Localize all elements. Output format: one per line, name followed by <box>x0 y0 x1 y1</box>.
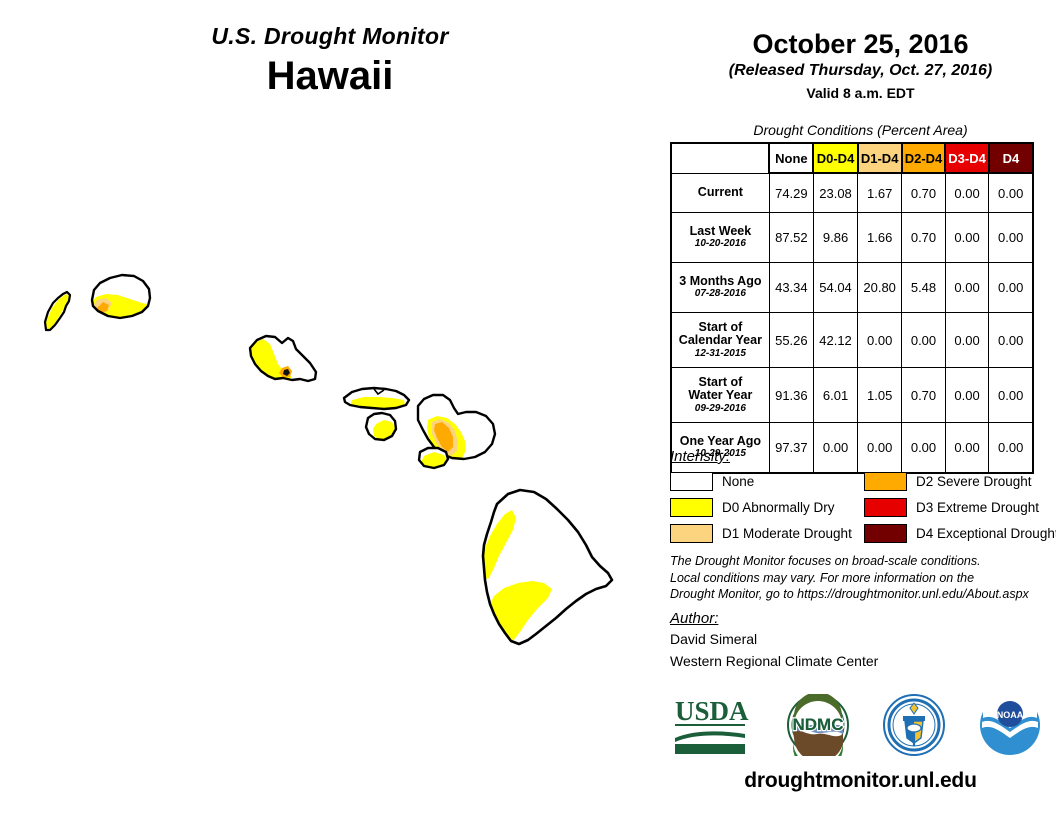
table-cell: 55.26 <box>769 313 813 368</box>
legend-swatch <box>670 472 713 491</box>
table-col-header-d2-d4: D2-D4 <box>902 143 946 173</box>
table-row-label: Current <box>671 173 769 213</box>
table-cell: 54.04 <box>813 263 857 313</box>
island-kauai <box>88 275 154 322</box>
disclaimer-line-1: The Drought Monitor focuses on broad-sca… <box>670 553 1056 570</box>
table-row-label-line1: Start of <box>699 375 743 389</box>
legend-label: None <box>722 474 754 489</box>
legend-item-d4: D4 Exceptional Drought <box>864 523 1056 543</box>
table-cell: 1.67 <box>858 173 902 213</box>
table-cell: 5.48 <box>902 263 946 313</box>
drought-monitor-page: U.S. Drought Monitor Hawaii <box>0 0 1056 816</box>
author-title: Author: <box>670 610 1056 627</box>
island-molokai <box>344 388 409 410</box>
table-cell: 0.00 <box>945 263 989 313</box>
table-col-header-d1-d4: D1-D4 <box>858 143 902 173</box>
intensity-legend: Intensity: NoneD0 Abnormally DryD1 Moder… <box>670 448 1056 547</box>
table-header-row: NoneD0-D4D1-D4D2-D4D3-D4D4 <box>671 143 1033 173</box>
usda-logo: USDA <box>673 694 749 756</box>
table-row-label: Start ofCalendar Year12-31-2015 <box>671 313 769 368</box>
legend-swatch <box>864 498 907 517</box>
table-row: Start ofCalendar Year12-31-201555.2642.1… <box>671 313 1033 368</box>
legend-item-d2: D2 Severe Drought <box>864 471 1032 491</box>
table-cell: 42.12 <box>813 313 857 368</box>
disclaimer-line-3: Drought Monitor, go to https://droughtmo… <box>670 586 1056 603</box>
legend-swatch <box>670 498 713 517</box>
table-cell: 0.00 <box>902 313 946 368</box>
table-caption: Drought Conditions (Percent Area) <box>665 122 1056 138</box>
legend-grid: NoneD0 Abnormally DryD1 Moderate Drought… <box>670 471 1056 547</box>
author-block: Author: David Simeral Western Regional C… <box>670 610 1056 671</box>
table-cell: 0.70 <box>902 368 946 423</box>
legend-item-d0: D0 Abnormally Dry <box>670 497 835 517</box>
hawaii-islands-map[interactable] <box>0 0 665 816</box>
release-date: October 25, 2016 <box>665 28 1056 60</box>
legend-label: D0 Abnormally Dry <box>722 500 835 515</box>
table-row-label-line1: Start of <box>699 320 743 334</box>
table-cell: 43.34 <box>769 263 813 313</box>
table-row-label-text: Current <box>698 185 743 199</box>
table-row-date: 07-28-2016 <box>674 288 767 300</box>
table-cell: 0.70 <box>902 173 946 213</box>
legend-item-none: None <box>670 471 754 491</box>
table-col-header-d0-d4: D0-D4 <box>813 143 857 173</box>
table-row: Start ofWater Year09-29-201691.366.011.0… <box>671 368 1033 423</box>
island-oahu <box>246 336 316 382</box>
table-cell: 0.00 <box>989 263 1033 313</box>
table-cell: 0.00 <box>989 368 1033 423</box>
ndmc-logo: NDMC NDMC <box>787 694 849 756</box>
table-body: Current74.2923.081.670.700.000.00Last We… <box>671 173 1033 473</box>
table-cell: 87.52 <box>769 213 813 263</box>
valid-time: Valid 8 a.m. EDT <box>665 83 1056 103</box>
svg-text:NDMC: NDMC <box>793 715 844 734</box>
table-cell: 0.00 <box>858 313 902 368</box>
table-cell: 0.00 <box>945 368 989 423</box>
site-url[interactable]: droughtmonitor.unl.edu <box>665 769 1056 793</box>
table-cell: 1.05 <box>858 368 902 423</box>
logo-strip: USDA NDMC NDMC <box>665 694 1056 764</box>
table-row-label-text: 3 Months Ago <box>679 274 761 288</box>
table-cell: 0.00 <box>945 313 989 368</box>
legend-label: D3 Extreme Drought <box>916 500 1039 515</box>
released-on: (Released Thursday, Oct. 27, 2016) <box>665 60 1056 82</box>
island-hawaii-big-island <box>479 490 612 644</box>
table-cell: 0.00 <box>989 213 1033 263</box>
table-cell: 6.01 <box>813 368 857 423</box>
table-cell: 1.66 <box>858 213 902 263</box>
legend-swatch <box>670 524 713 543</box>
table-row: Last Week10-20-201687.529.861.660.700.00… <box>671 213 1033 263</box>
table-cell: 0.70 <box>902 213 946 263</box>
table-cell: 91.36 <box>769 368 813 423</box>
legend-label: D4 Exceptional Drought <box>916 526 1056 541</box>
table-cell: 0.00 <box>989 173 1033 213</box>
table-row-label: Start ofWater Year09-29-2016 <box>671 368 769 423</box>
table-cell: 0.00 <box>945 213 989 263</box>
table-row-label-text: Last Week <box>690 224 752 238</box>
legend-item-d1: D1 Moderate Drought <box>670 523 852 543</box>
table-row: Current74.2923.081.670.700.000.00 <box>671 173 1033 213</box>
drought-conditions-table: NoneD0-D4D1-D4D2-D4D3-D4D4 Current74.292… <box>670 142 1034 474</box>
legend-swatch <box>864 524 907 543</box>
author-name: David Simeral <box>670 630 1056 649</box>
table-row-date: 09-29-2016 <box>674 403 767 415</box>
table-row-date: 12-31-2015 <box>674 348 767 360</box>
svg-text:NOAA: NOAA <box>997 710 1024 720</box>
date-block: October 25, 2016 (Released Thursday, Oct… <box>665 28 1056 103</box>
table-row-label-line2: Calendar Year <box>679 333 762 347</box>
table-row-label: Last Week10-20-2016 <box>671 213 769 263</box>
author-affiliation: Western Regional Climate Center <box>670 652 1056 671</box>
usdc-seal-logo <box>883 694 945 756</box>
table-col-header-none: None <box>769 143 813 173</box>
disclaimer-text: The Drought Monitor focuses on broad-sca… <box>670 553 1056 603</box>
table-cell: 9.86 <box>813 213 857 263</box>
intensity-title: Intensity: <box>670 448 1056 465</box>
svg-text:USDA: USDA <box>675 696 749 726</box>
disclaimer-line-2: Local conditions may vary. For more info… <box>670 570 1056 587</box>
noaa-logo: NOAA <box>979 694 1041 756</box>
table-cell: 20.80 <box>858 263 902 313</box>
table-cell: 23.08 <box>813 173 857 213</box>
island-lanai <box>366 413 396 441</box>
island-kahoolawe <box>419 448 448 468</box>
legend-swatch <box>864 472 907 491</box>
table-row-date: 10-20-2016 <box>674 238 767 250</box>
table-head: NoneD0-D4D1-D4D2-D4D3-D4D4 <box>671 143 1033 173</box>
table-col-header-d3-d4: D3-D4 <box>945 143 989 173</box>
table-corner-cell <box>671 143 769 173</box>
map-panel: U.S. Drought Monitor Hawaii <box>0 0 665 816</box>
table-row-label-line2: Water Year <box>688 388 752 402</box>
table-cell: 0.00 <box>945 173 989 213</box>
table-row-label: 3 Months Ago07-28-2016 <box>671 263 769 313</box>
table-row-label-text: One Year Ago <box>680 434 761 448</box>
legend-label: D1 Moderate Drought <box>722 526 852 541</box>
info-panel: October 25, 2016 (Released Thursday, Oct… <box>665 0 1056 816</box>
island-niihau <box>42 292 70 340</box>
table-cell: 0.00 <box>989 313 1033 368</box>
table-col-header-d4: D4 <box>989 143 1033 173</box>
table-cell: 74.29 <box>769 173 813 213</box>
legend-label: D2 Severe Drought <box>916 474 1032 489</box>
legend-item-d3: D3 Extreme Drought <box>864 497 1039 517</box>
table-row: 3 Months Ago07-28-201643.3454.0420.805.4… <box>671 263 1033 313</box>
